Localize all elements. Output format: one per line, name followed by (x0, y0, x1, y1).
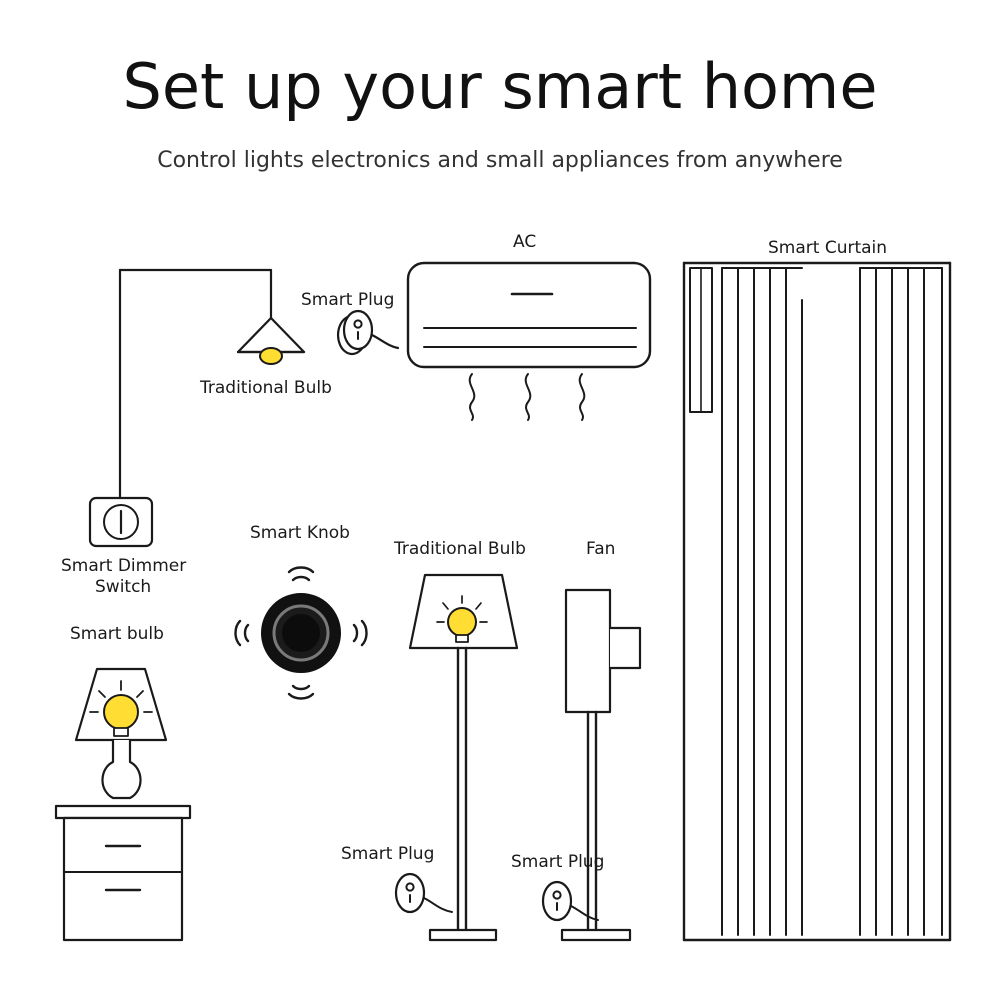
label-smart-plug-ac: Smart Plug (301, 290, 394, 310)
smart-knob (236, 568, 367, 699)
smart-plug-b (396, 874, 452, 912)
smart-dimmer-switch (90, 498, 152, 546)
smart-home-setup-page: Set up your smart home Control lights el… (0, 0, 1000, 1000)
ceiling-pendant-lamp (238, 318, 304, 364)
label-traditional-bulb-ceiling: Traditional Bulb (200, 378, 332, 398)
air-conditioner (408, 263, 650, 420)
label-smart-curtain: Smart Curtain (768, 238, 887, 258)
smart-home-diagram (0, 0, 1000, 1000)
smart-plug-c (543, 882, 598, 920)
pedestal-fan (562, 590, 640, 940)
label-smart-dimmer-switch-line1: Smart Dimmer (61, 556, 186, 576)
label-smart-dimmer-switch-line2: Switch (95, 577, 151, 597)
label-smart-bulb: Smart bulb (70, 624, 164, 644)
label-fan: Fan (586, 539, 615, 559)
smart-curtain-panels (684, 263, 950, 940)
floor-lamp (410, 575, 517, 940)
label-smart-plug-floor-lamp: Smart Plug (341, 844, 434, 864)
smart-plug-a (338, 311, 398, 354)
label-smart-knob: Smart Knob (250, 523, 350, 543)
label-smart-plug-fan: Smart Plug (511, 852, 604, 872)
nightstand (56, 806, 190, 940)
label-traditional-bulb-floor: Traditional Bulb (394, 539, 526, 559)
bedside-table-lamp (76, 669, 166, 798)
